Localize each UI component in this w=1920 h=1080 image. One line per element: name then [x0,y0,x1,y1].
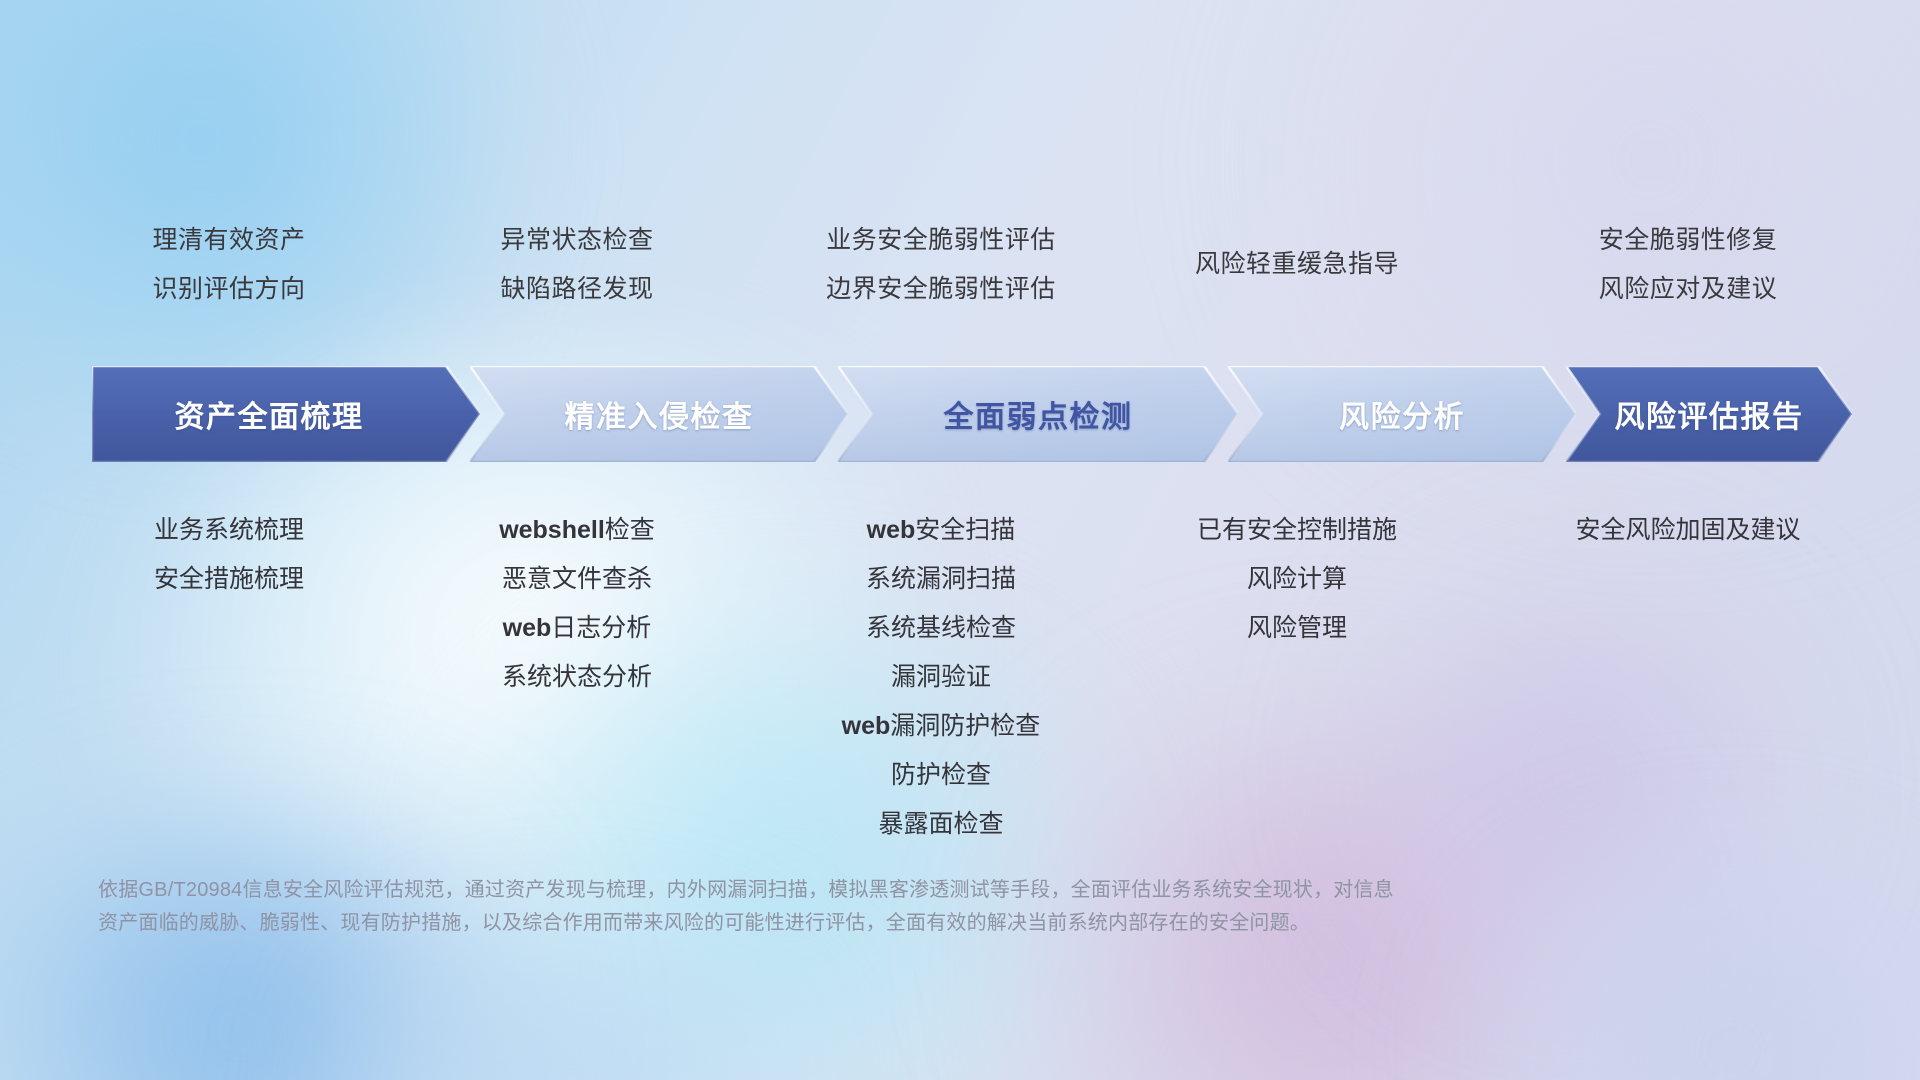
detail-item-text: 漏洞防护检查 [890,712,1040,740]
detail-item-prefix: web [867,516,916,544]
detail-item: 漏洞验证 [621,653,1261,702]
stage-3-chevron[interactable]: 全面弱点检测 [838,366,1238,462]
stage-4-chevron[interactable]: 风险分析 [1228,366,1576,462]
stage-5-chevron[interactable]: 风险评估报告 [1566,366,1852,462]
detail-item: web漏洞防护检查 [621,702,1261,751]
detail-item: 安全风险加固及建议 [1368,506,1920,555]
stage-2-label: 精准入侵检查 [470,392,848,436]
stage-2-chevron[interactable]: 精准入侵检查 [470,366,848,462]
detail-item: 暴露面检查 [621,800,1261,849]
stage-3-label: 全面弱点检测 [838,392,1238,436]
top-note-columns: 理清有效资产识别评估方向异常状态检查缺陷路径发现业务安全脆弱性评估边界安全脆弱性… [0,216,1920,346]
top-note-column-5: 安全脆弱性修复风险应对及建议 [1388,216,1920,314]
detail-item-prefix: web [503,614,552,642]
footer-line-1: 依据GB/T20984信息安全风险评估规范，通过资产发现与梳理，内外网漏洞扫描，… [98,874,1718,907]
process-stage-banner: 资产全面梳理精准入侵检查全面弱点检测风险分析风险评估报告 [92,366,1852,462]
stage-1-label: 资产全面梳理 [92,392,480,436]
detail-item: 风险计算 [977,555,1617,604]
stage-4-label: 风险分析 [1228,392,1576,436]
top-note-line: 安全脆弱性修复 [1388,216,1920,265]
stage-5-label: 风险评估报告 [1566,392,1852,436]
footer-description: 依据GB/T20984信息安全风险评估规范，通过资产发现与梳理，内外网漏洞扫描，… [98,874,1718,940]
detail-item: 风险管理 [977,604,1617,653]
top-note-line: 风险应对及建议 [1388,265,1920,314]
footer-line-2: 资产面临的威胁、脆弱性、现有防护措施，以及综合作用而带来风险的可能性进行评估，全… [98,907,1718,940]
detail-item-prefix: webshell [499,516,605,544]
detail-item-prefix: web [842,712,891,740]
detail-item: 防护检查 [621,751,1261,800]
stage-1-chevron[interactable]: 资产全面梳理 [92,366,480,462]
detail-column-5: 安全风险加固及建议 [1368,506,1920,555]
